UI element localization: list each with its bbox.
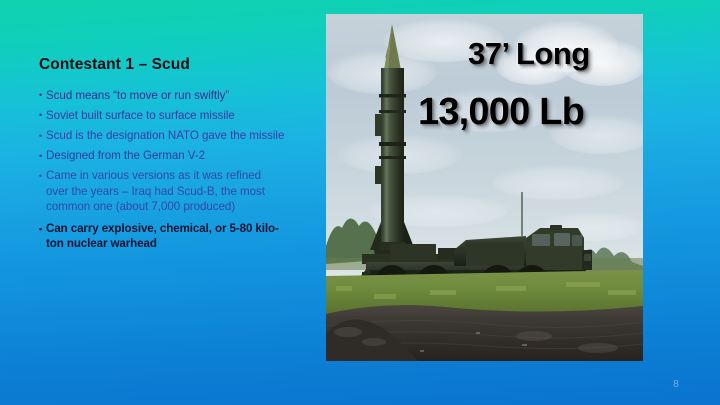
list-item: Scud means “to move or run swiftly”	[39, 88, 285, 103]
list-item: Soviet built surface to surface missile	[39, 108, 285, 123]
page-title: Contestant 1 – Scud	[39, 56, 285, 75]
bullet-list: Scud means “to move or run swiftly” Sovi…	[39, 88, 285, 252]
photo-caption-weight: 13,000 Lb	[418, 93, 584, 131]
slide-text-column: Contestant 1 – Scud Scud means “to move …	[39, 56, 285, 256]
list-item: Came in various versions as it was refin…	[39, 168, 285, 214]
list-item: Scud is the designation NATO gave the mi…	[39, 128, 285, 143]
photo-caption-length: 37’ Long	[468, 38, 590, 69]
presentation-slide: Contestant 1 – Scud Scud means “to move …	[0, 0, 720, 405]
list-item-emphasis: Can carry explosive, chemical, or 5-80 k…	[39, 221, 285, 251]
slide-page-number: 8	[669, 379, 683, 390]
list-item: Designed from the German V-2	[39, 148, 285, 163]
